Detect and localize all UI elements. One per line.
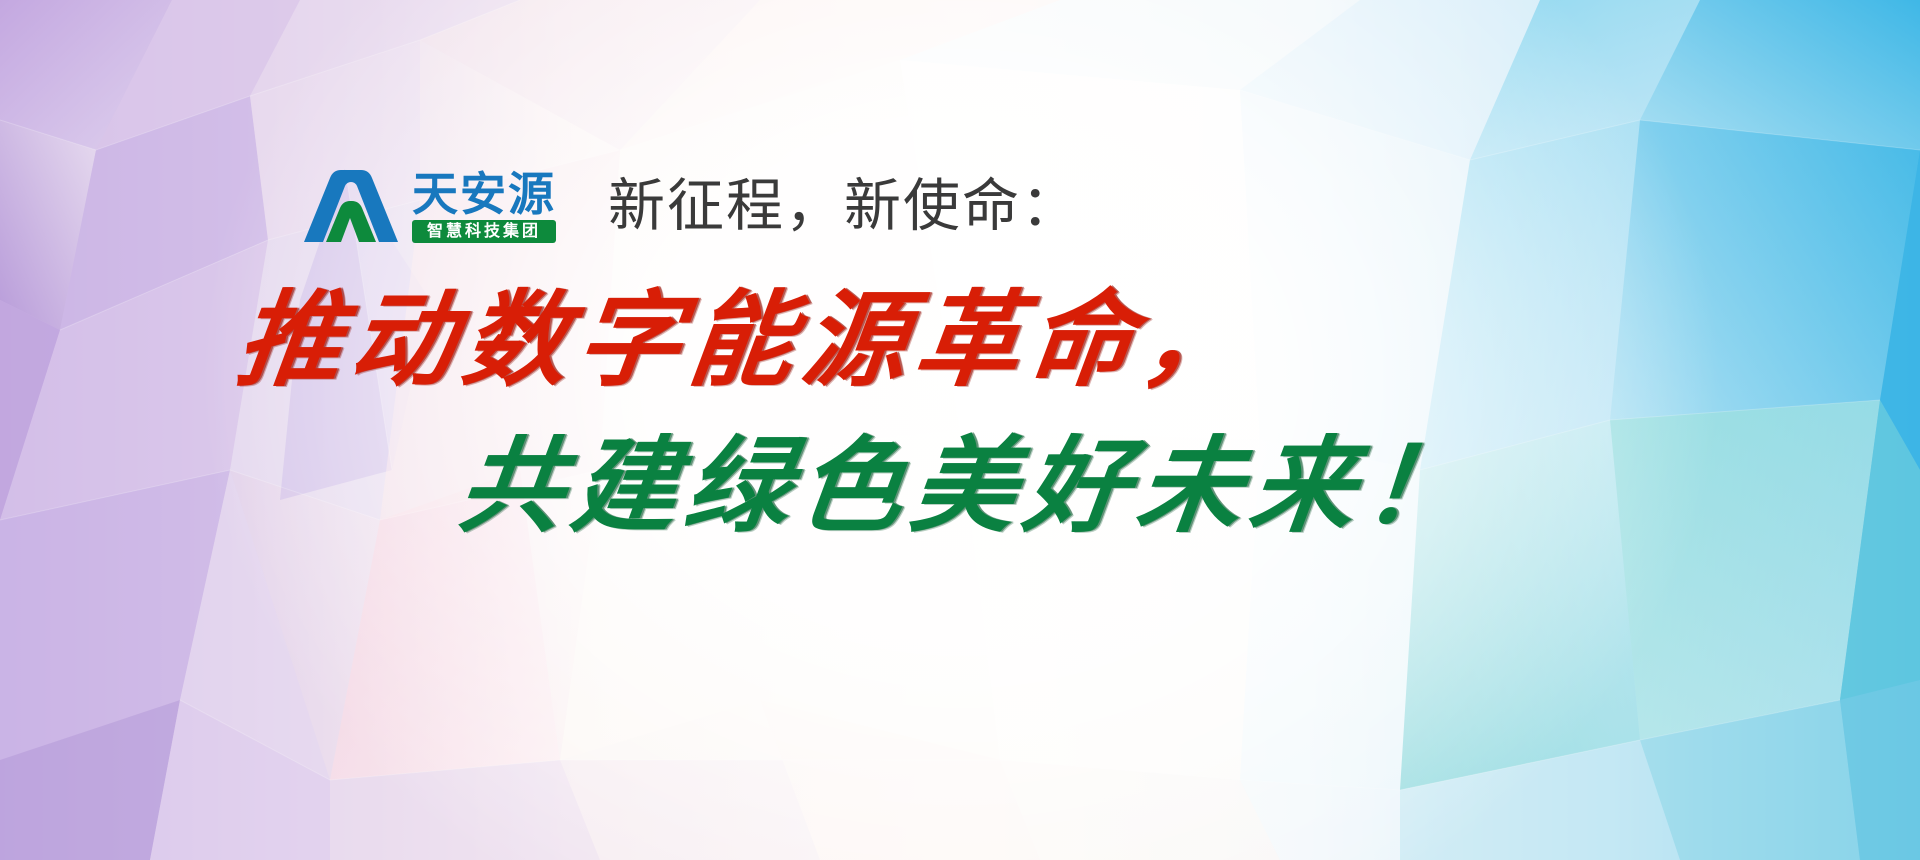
headline-line-2: 共建绿色美好未来！: [454, 434, 1484, 538]
logo-tagline-text: 智慧科技集团: [427, 223, 541, 239]
logo-company-name: 天安源: [412, 171, 556, 217]
banner-subtitle: 新征程，新使命：: [608, 178, 1080, 235]
logo-text-block: 天安源 智慧科技集团: [412, 169, 556, 243]
banner-canvas: 天安源 智慧科技集团 新征程，新使命： 推动数字能源革命， 共建绿色美好未来！: [0, 0, 1920, 860]
header-row: 天安源 智慧科技集团 新征程，新使命：: [300, 168, 1080, 244]
company-logo: 天安源 智慧科技集团: [300, 168, 556, 244]
banner-content: 天安源 智慧科技集团 新征程，新使命： 推动数字能源革命， 共建绿色美好未来！: [0, 0, 1920, 860]
headline-line-1: 推动数字能源革命，: [232, 288, 1262, 392]
logo-a-mark-icon: [300, 168, 402, 244]
logo-tagline-badge: 智慧科技集团: [412, 220, 556, 243]
